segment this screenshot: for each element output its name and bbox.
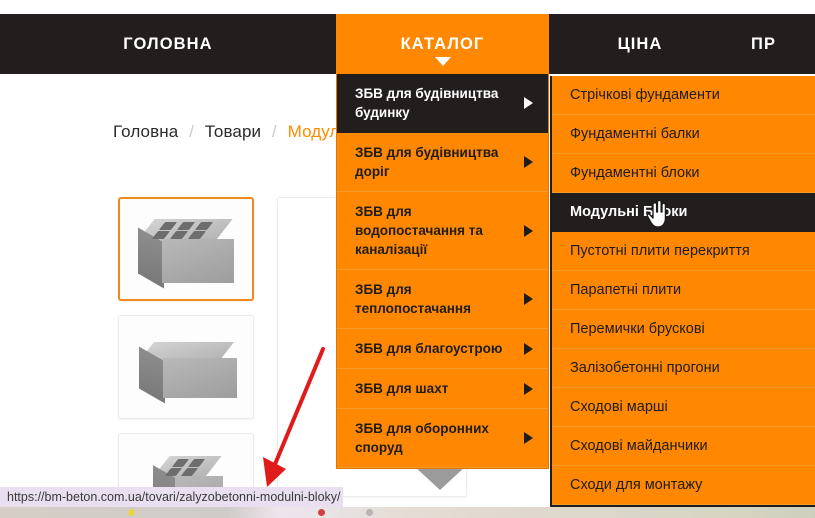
catalog-menu-item-landscaping[interactable]: ЗБВ для благоустрою (337, 329, 548, 369)
catalog-dropdown: ЗБВ для будівництва будинку ЗБВ для буді… (336, 74, 549, 469)
breadcrumb-item-home[interactable]: Головна (113, 122, 178, 141)
catalog-menu-item-roads[interactable]: ЗБВ для будівництва доріг (337, 133, 548, 192)
submenu-item-stair-landings[interactable]: Сходові майданчики (552, 427, 815, 466)
catalog-menu-label: ЗБВ для водопостачання та каналізації (355, 204, 483, 257)
catalog-menu-label: ЗБВ для будівництва доріг (355, 145, 498, 179)
breadcrumb-separator: / (189, 122, 194, 141)
catalog-menu-item-mines[interactable]: ЗБВ для шахт (337, 369, 548, 409)
catalog-menu-item-defense[interactable]: ЗБВ для оборонних споруд (337, 409, 548, 468)
strip-dot-red (318, 509, 325, 516)
browser-viewport: Головна / Товари / Модульн (0, 0, 815, 518)
submenu-item-rc-girders[interactable]: Залізобетонні прогони (552, 349, 815, 388)
catalog-menu-label: ЗБВ для будівництва будинку (355, 86, 498, 120)
catalog-menu-label: ЗБВ для оборонних споруд (355, 421, 489, 455)
desktop-bottom-strip (0, 507, 815, 518)
breadcrumb-item-products[interactable]: Товари (205, 122, 261, 141)
submenu-item-strip-foundations[interactable]: Стрічкові фундаменти (552, 76, 815, 115)
strip-dot-yellow (128, 509, 135, 516)
submenu-item-hollow-slabs[interactable]: Пустотні плити перекриття (552, 232, 815, 271)
caret-right-icon (524, 343, 533, 355)
gallery-thumbnail-2[interactable] (118, 315, 254, 419)
caret-down-icon (435, 57, 451, 66)
nav-item-price[interactable]: ЦІНА (549, 14, 731, 74)
submenu-item-parapet-slabs[interactable]: Парапетні плити (552, 271, 815, 310)
submenu-item-foundation-blocks[interactable]: Фундаментні блоки (552, 154, 815, 193)
nav-item-catalog[interactable]: КАТАЛОГ (336, 14, 549, 74)
catalog-menu-label: ЗБВ для теплопостачання (355, 282, 471, 316)
caret-right-icon (524, 383, 533, 395)
catalog-menu-label: ЗБВ для благоустрою (355, 341, 502, 356)
catalog-submenu: Стрічкові фундаменти Фундаментні балки Ф… (550, 76, 815, 507)
caret-right-icon (524, 293, 533, 305)
submenu-item-foundation-beams[interactable]: Фундаментні балки (552, 115, 815, 154)
catalog-menu-item-water[interactable]: ЗБВ для водопостачання та каналізації (337, 192, 548, 270)
gallery-thumbnail-1[interactable] (118, 197, 254, 301)
breadcrumb-separator: / (272, 122, 277, 141)
nav-item-home[interactable]: ГОЛОВНА (0, 14, 336, 74)
breadcrumb: Головна / Товари / Модульн (113, 122, 358, 142)
strip-dot-gray (366, 509, 373, 516)
catalog-menu-item-house[interactable]: ЗБВ для будівництва будинку (337, 74, 548, 133)
submenu-item-mounting-stairs[interactable]: Сходи для монтажу (552, 466, 815, 505)
caret-right-icon (524, 97, 533, 109)
caret-right-icon (524, 225, 533, 237)
catalog-menu-label: ЗБВ для шахт (355, 381, 448, 396)
submenu-item-modular-blocks[interactable]: Модульні Блоки (552, 193, 815, 232)
caret-right-icon (524, 156, 533, 168)
submenu-item-lintels[interactable]: Перемички брускові (552, 310, 815, 349)
nav-item-catalog-label: КАТАЛОГ (401, 35, 485, 54)
gallery-thumbnails (118, 197, 254, 518)
nav-item-products[interactable]: ПР (731, 14, 815, 74)
browser-status-bar: https://bm-beton.com.ua/tovari/zalyzobet… (0, 487, 343, 507)
catalog-menu-item-heating[interactable]: ЗБВ для теплопостачання (337, 270, 548, 329)
caret-right-icon (524, 432, 533, 444)
submenu-item-stair-flights[interactable]: Сходові марші (552, 388, 815, 427)
main-navigation: ГОЛОВНА КАТАЛОГ ЦІНА ПР (0, 14, 815, 74)
